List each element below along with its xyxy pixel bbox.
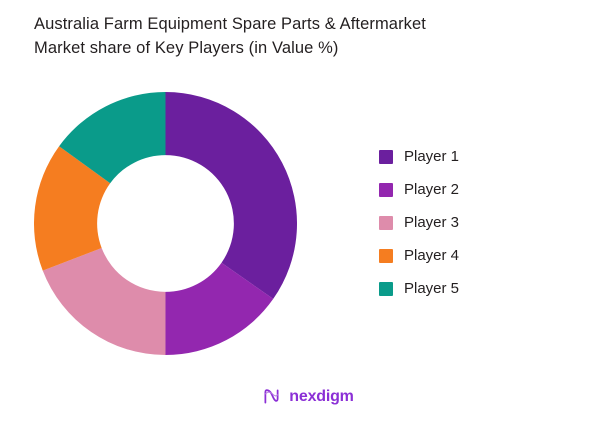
brand-name: nexdigm bbox=[289, 388, 353, 406]
legend-label-player-4: Player 4 bbox=[404, 248, 459, 263]
donut-slice-player-1[interactable] bbox=[166, 92, 298, 299]
legend-item-player-5[interactable]: Player 5 bbox=[379, 272, 569, 305]
donut-chart bbox=[34, 92, 297, 355]
chart-legend: Player 1 Player 2 Player 3 Player 4 Play… bbox=[379, 140, 569, 305]
legend-swatch-player-1 bbox=[379, 150, 393, 164]
legend-label-player-2: Player 2 bbox=[404, 182, 459, 197]
brand-logo: nexdigm bbox=[0, 386, 615, 407]
chart-page: Australia Farm Equipment Spare Parts & A… bbox=[0, 0, 615, 423]
legend-label-player-3: Player 3 bbox=[404, 215, 459, 230]
legend-item-player-4[interactable]: Player 4 bbox=[379, 239, 569, 272]
legend-swatch-player-2 bbox=[379, 183, 393, 197]
donut-chart-svg bbox=[34, 92, 297, 355]
legend-label-player-1: Player 1 bbox=[404, 149, 459, 164]
legend-swatch-player-3 bbox=[379, 216, 393, 230]
legend-label-player-5: Player 5 bbox=[404, 281, 459, 296]
donut-slice-group bbox=[34, 92, 297, 355]
legend-item-player-2[interactable]: Player 2 bbox=[379, 173, 569, 206]
nexdigm-wave-mark-icon bbox=[261, 386, 282, 407]
legend-item-player-1[interactable]: Player 1 bbox=[379, 140, 569, 173]
legend-item-player-3[interactable]: Player 3 bbox=[379, 206, 569, 239]
legend-swatch-player-4 bbox=[379, 249, 393, 263]
legend-swatch-player-5 bbox=[379, 282, 393, 296]
donut-slice-player-3[interactable] bbox=[43, 248, 166, 355]
page-title: Australia Farm Equipment Spare Parts & A… bbox=[34, 12, 574, 60]
